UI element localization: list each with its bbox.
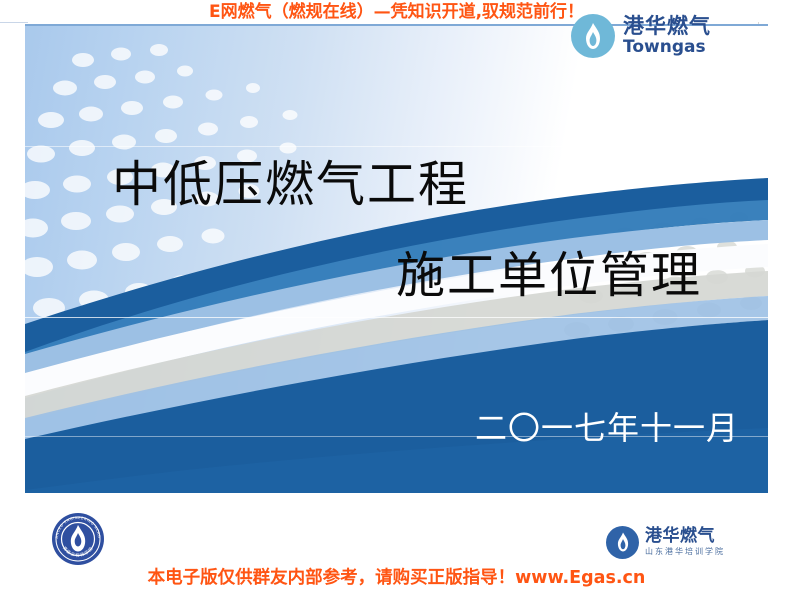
towngas-en-name: Towngas [623, 39, 711, 56]
towngas-logo: 港华燃气 Towngas [571, 8, 739, 64]
presentation-slide: 中低压燃气工程 施工单位管理 二〇一七年十一月 [25, 24, 768, 493]
slide-hairline-upper [25, 146, 768, 147]
shandong-logo-text: 港华燃气 山东港华培训学院 [645, 528, 725, 556]
page-top-rule [0, 22, 28, 23]
slide-title-line-1: 中低压燃气工程 [112, 158, 469, 212]
slide-title-line-2: 施工单位管理 [396, 249, 702, 303]
shandong-flame-circle-icon [606, 526, 639, 559]
bottom-watermark-banner: 本电子版仅供群友内部参考，请购买正版指导！www.Egas.cn [0, 566, 793, 590]
shandong-towngas-logo: 港华燃气 山东港华培训学院 [606, 521, 774, 563]
towngas-logo-text: 港华燃气 Towngas [623, 16, 711, 56]
academy-seal-icon: ADVANCED ENGINEERING ACADEMY 高级工程师学院 [51, 512, 105, 566]
slide-date: 二〇一七年十一月 [475, 409, 739, 447]
slide-hairline-middle [25, 317, 768, 318]
document-page: E网燃气（燃规在线）—凭知识开道,驭规范前行！ [0, 0, 793, 602]
shandong-sub-name: 山东港华培训学院 [645, 548, 725, 556]
shandong-cn-name: 港华燃气 [645, 528, 725, 545]
towngas-flame-circle-icon [571, 14, 615, 58]
towngas-cn-name: 港华燃气 [623, 16, 711, 37]
